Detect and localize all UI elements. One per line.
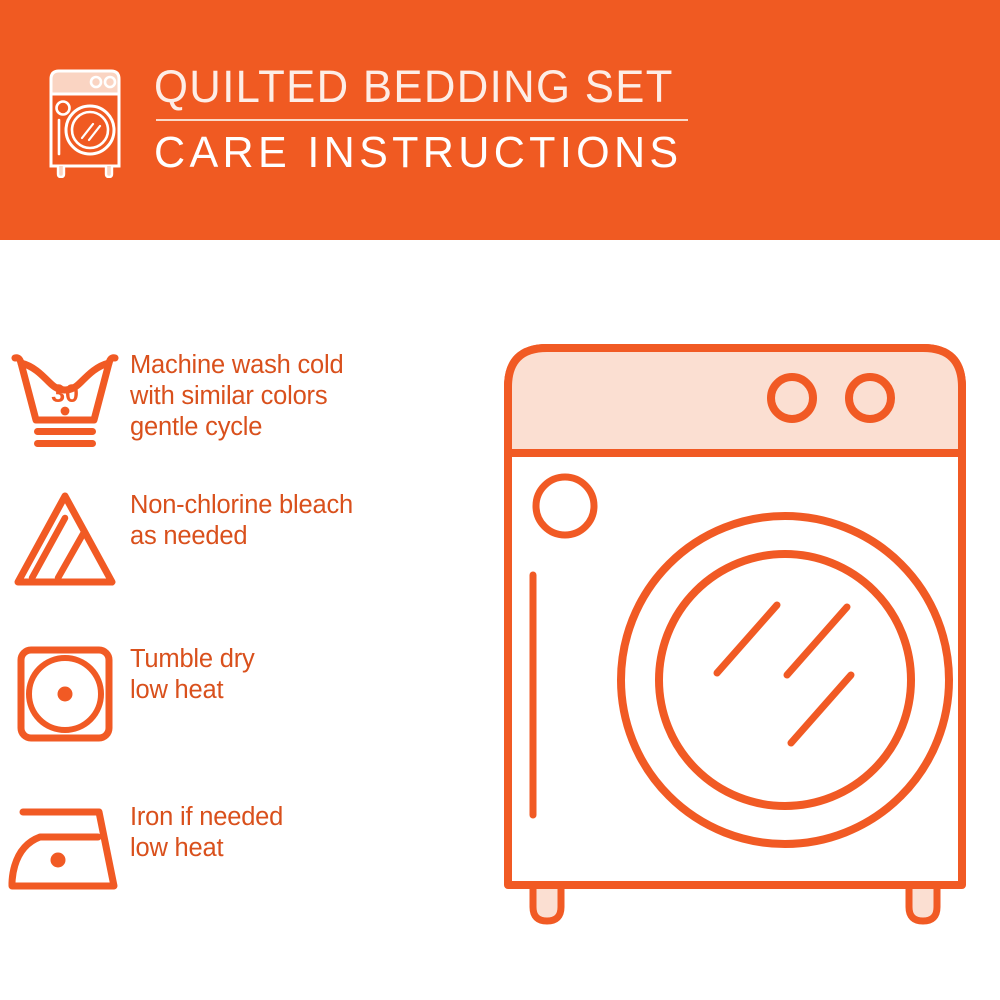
page-title: QUILTED BEDDING SET [154,62,677,111]
iron-icon [6,800,124,896]
machine-knob-right [849,377,891,419]
care-item-bleach: Non-chlorine bleach as needed [0,488,470,590]
care-instructions-page: QUILTED BEDDING SET CARE INSTRUCTIONS 30 [0,0,1000,1000]
care-label-bleach: Non-chlorine bleach as needed [130,488,353,552]
page-subtitle: CARE INSTRUCTIONS [154,128,682,178]
washing-machine-illustration [495,335,975,935]
bleach-triangle-icon [9,488,121,590]
care-icon-wash-wrap: 30 [0,348,130,456]
care-label-wash: Machine wash cold with similar colors ge… [130,348,343,443]
title-block: QUILTED BEDDING SET CARE INSTRUCTIONS [154,62,693,178]
care-item-wash: 30 Machine wash cold with similar colors… [0,348,470,456]
washing-machine-icon [44,66,132,178]
header-band: QUILTED BEDDING SET CARE INSTRUCTIONS [0,0,1000,240]
title-divider [156,119,688,121]
care-icon-iron-wrap [0,800,130,896]
care-label-iron: Iron if needed low heat [130,800,283,864]
tumble-dry-icon [13,642,117,746]
header-content: QUILTED BEDDING SET CARE INSTRUCTIONS [44,62,693,178]
care-item-dry: Tumble dry low heat [0,642,470,746]
wash-temp-label: 30 [51,380,79,408]
care-label-dry: Tumble dry low heat [130,642,255,706]
machine-knob-left [771,377,813,419]
care-item-iron: Iron if needed low heat [0,800,470,896]
care-icon-bleach-wrap [0,488,130,590]
care-icon-dry-wrap [0,642,130,746]
wash-tub-icon: 30 [9,348,121,456]
